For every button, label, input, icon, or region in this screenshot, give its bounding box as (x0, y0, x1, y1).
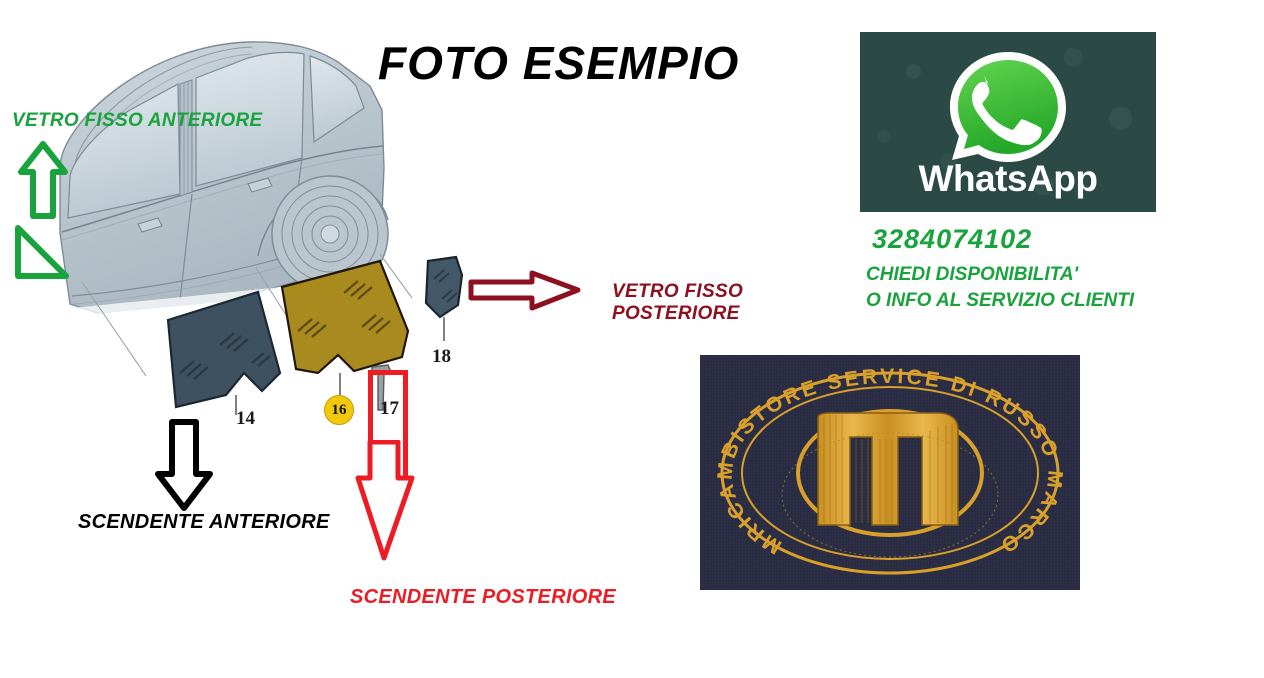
part-16-shape (282, 261, 408, 373)
label-vetro-fisso-anteriore: VETRO FISSO ANTERIORE (12, 110, 263, 132)
arrow-right-darkred-icon (466, 268, 586, 316)
page-title: FOTO ESEMPIO (378, 36, 739, 90)
part-number-16: 16 (324, 395, 354, 425)
label-vetro-fisso-posteriore: VETRO FISSO POSTERIORE (612, 281, 743, 326)
part-number-14: 14 (236, 408, 255, 430)
image-canvas: FOTO ESEMPIO (0, 0, 1264, 678)
part-number-18: 18 (432, 346, 451, 368)
label-scendente-posteriore: SCENDENTE POSTERIORE (350, 586, 616, 610)
part-18-shape (426, 257, 462, 317)
exploded-parts-group (140, 245, 500, 445)
label-scendente-anteriore: SCENDENTE ANTERIORE (78, 511, 330, 535)
contact-instructions: CHIEDI DISPONIBILITA' O INFO AL SERVIZIO… (866, 262, 1134, 313)
arrow-down-red-icon (354, 440, 424, 570)
shop-logo-mark: MRICAMBISTORE SERVICE DI RUSSO MARCO (700, 355, 1080, 590)
arrow-up-green-icon (10, 136, 90, 286)
whatsapp-wordmark: WhatsApp (860, 158, 1156, 200)
whatsapp-banner[interactable]: WhatsApp (860, 32, 1156, 212)
whatsapp-icon (928, 46, 1088, 164)
part-14-shape (168, 292, 280, 407)
arrow-down-black-icon (152, 416, 222, 514)
shop-logo-photo: MRICAMBISTORE SERVICE DI RUSSO MARCO (700, 355, 1080, 590)
phone-number[interactable]: 3284074102 (872, 224, 1032, 255)
